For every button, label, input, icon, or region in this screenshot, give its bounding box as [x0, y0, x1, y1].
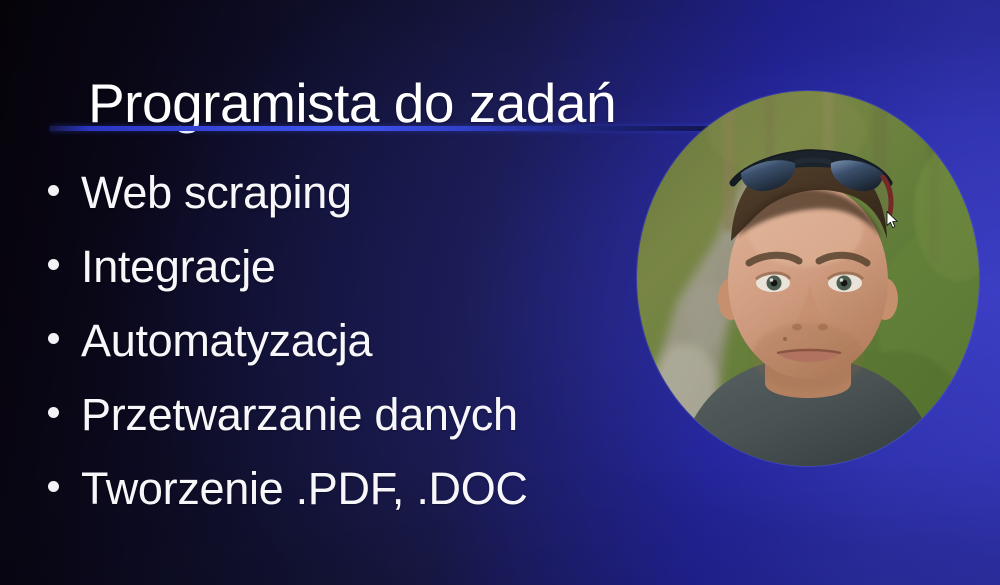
list-item: Integracje	[48, 230, 688, 304]
list-item-label: Automatyzacja	[81, 304, 372, 378]
list-item-label: Tworzenie .PDF, .DOC	[81, 452, 528, 526]
list-item: Automatyzacja	[48, 304, 688, 378]
bullet-dot-icon	[48, 259, 59, 270]
presentation-slide: Programista do zadań Web scraping Integr…	[0, 0, 1000, 585]
avatar	[637, 91, 979, 466]
bullet-dot-icon	[48, 481, 59, 492]
feature-list: Web scraping Integracje Automatyzacja Pr…	[48, 156, 688, 526]
title-divider	[50, 126, 714, 131]
list-item: Przetwarzanie danych	[48, 378, 688, 452]
bullet-dot-icon	[48, 185, 59, 196]
bullet-dot-icon	[48, 407, 59, 418]
list-item: Tworzenie .PDF, .DOC	[48, 452, 688, 526]
list-item: Web scraping	[48, 156, 688, 230]
list-item-label: Web scraping	[81, 156, 352, 230]
page-title: Programista do zadań	[88, 75, 616, 131]
list-item-label: Integracje	[81, 230, 276, 304]
bullet-dot-icon	[48, 333, 59, 344]
list-item-label: Przetwarzanie danych	[81, 378, 518, 452]
